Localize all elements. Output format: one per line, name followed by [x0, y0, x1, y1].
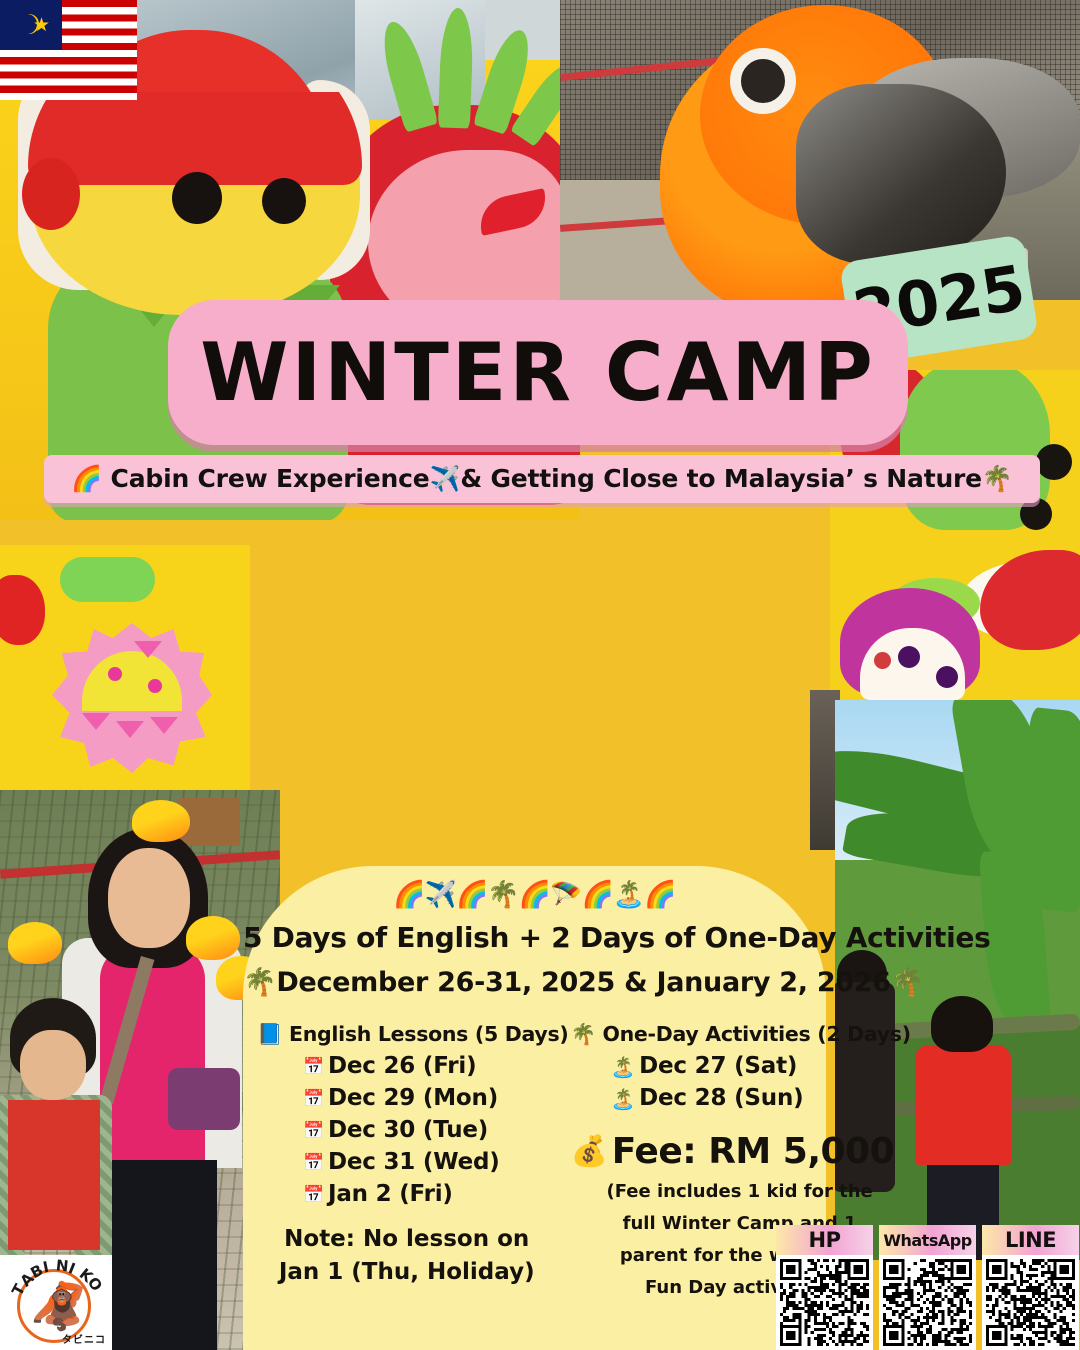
list-item: 📅Dec 29 (Mon)	[251, 1085, 568, 1111]
mascot-eye	[262, 178, 306, 224]
calendar-icon: 📅	[303, 1121, 324, 1141]
winter-camp-poster: ★	[0, 0, 1080, 1350]
mascot-triangle	[150, 717, 178, 734]
list-item-label: Dec 29 (Mon)	[328, 1085, 498, 1111]
qr-code-strip: HP WhatsApp LINE	[776, 1225, 1080, 1350]
list-item-label: Jan 2 (Fri)	[328, 1181, 453, 1207]
mascot-eye	[172, 172, 222, 224]
list-item: 📅Dec 30 (Tue)	[251, 1117, 568, 1143]
headline-days: 5 Days of English + 2 Days of One-Day Ac…	[243, 918, 826, 957]
list-item-label: Dec 30 (Tue)	[328, 1117, 488, 1143]
english-lessons-column: 📘 English Lessons (5 Days) 📅Dec 26 (Fri)…	[251, 1022, 568, 1304]
list-item-label: Dec 31 (Wed)	[328, 1149, 500, 1175]
english-lessons-heading: 📘 English Lessons (5 Days)	[251, 1022, 568, 1047]
orangutan-icon: 🦧	[30, 1281, 78, 1335]
money-bag-icon: 💰	[570, 1134, 607, 1169]
list-item: 🏝️Dec 27 (Sat)	[568, 1053, 910, 1079]
mascot-eye	[898, 646, 920, 668]
list-item-label: Dec 26 (Fri)	[328, 1053, 476, 1079]
qr-hp[interactable]: HP	[776, 1225, 873, 1350]
list-item: 📅Dec 31 (Wed)	[251, 1149, 568, 1175]
qr-hp-label: HP	[776, 1225, 873, 1255]
fee-amount: Fee: RM 5,000	[612, 1131, 894, 1172]
list-item: 📅Dec 26 (Fri)	[251, 1053, 568, 1079]
calendar-icon: 📅	[303, 1153, 324, 1173]
red-decoration	[980, 550, 1080, 650]
qr-line-label: LINE	[982, 1225, 1079, 1255]
sun-conure-bird	[8, 922, 62, 964]
qr-whatsapp[interactable]: WhatsApp	[879, 1225, 976, 1350]
mascot-eye	[148, 679, 162, 693]
headline-dates: 🌴December 26-31, 2025 & January 2, 2026🌴	[243, 963, 826, 1002]
photo-pink-mascot-decoration	[0, 545, 250, 805]
list-item: 🏝️Dec 28 (Sun)	[568, 1085, 910, 1111]
fee-note-line1: (Fee includes 1 kid for the	[572, 1176, 906, 1208]
sun-conure-bird	[186, 916, 240, 960]
mascot-triangle	[116, 721, 144, 738]
holiday-note-line1: Note: No lesson on	[245, 1223, 568, 1256]
fee-row: 💰 Fee: RM 5,000	[568, 1131, 910, 1172]
list-item: 📅Jan 2 (Fri)	[251, 1181, 568, 1207]
calendar-icon: 📅	[303, 1089, 324, 1109]
decoration-dot	[1036, 444, 1072, 480]
logo-japanese-name: タビニコ	[62, 1331, 106, 1346]
tabiniko-logo: TABINIKO 🦧 タビニコ	[0, 1255, 112, 1350]
red-decoration	[0, 575, 45, 645]
shoulder-bag	[168, 1068, 240, 1130]
qr-line-image[interactable]	[982, 1255, 1079, 1350]
page-title: WINTER CAMP	[168, 300, 908, 445]
child-face	[20, 1030, 86, 1100]
subtitle-bar: 🌈 Cabin Crew Experience✈️& Getting Close…	[44, 455, 1040, 503]
sun-conure-bird	[132, 800, 190, 842]
calendar-icon: 📅	[303, 1185, 324, 1205]
mascot-eye	[108, 667, 122, 681]
island-icon: 🏝️	[610, 1087, 635, 1111]
qr-line[interactable]: LINE	[982, 1225, 1079, 1350]
flag-star-icon: ★	[33, 16, 50, 35]
mother-face	[108, 848, 190, 948]
flag-crescent-icon	[12, 14, 32, 34]
qr-whatsapp-label: WhatsApp	[879, 1225, 976, 1255]
holiday-note: Note: No lesson on Jan 1 (Thu, Holiday)	[245, 1223, 568, 1289]
boy-red-shirt	[915, 1045, 1011, 1165]
holiday-note-line2: Jan 1 (Thu, Holiday)	[245, 1256, 568, 1289]
qr-hp-image[interactable]	[776, 1255, 873, 1350]
island-icon: 🏝️	[610, 1055, 635, 1079]
mascot-triangle	[82, 713, 110, 730]
mascot-triangle	[134, 641, 162, 658]
boy-hair	[931, 996, 993, 1052]
list-item-label: Dec 28 (Sun)	[639, 1085, 803, 1111]
mascot-eye	[874, 652, 891, 669]
mascot-eye	[936, 666, 958, 688]
subtitle-text: 🌈 Cabin Crew Experience✈️& Getting Close…	[71, 464, 1013, 494]
parrot-eye	[730, 48, 796, 114]
decorative-emoji-row: 🌈✈️🌈🌴🌈🪂🌈🏝️🌈	[243, 878, 826, 912]
info-card: 🌈✈️🌈🌴🌈🪂🌈🏝️🌈 5 Days of English + 2 Days o…	[243, 866, 826, 1350]
qr-whatsapp-image[interactable]	[879, 1255, 976, 1350]
green-mascot-ear	[22, 158, 80, 230]
list-item-label: Dec 27 (Sat)	[639, 1053, 797, 1079]
schedule-columns: 📘 English Lessons (5 Days) 📅Dec 26 (Fri)…	[243, 1022, 826, 1304]
parrot-beak	[796, 84, 1006, 264]
green-decoration	[60, 557, 155, 602]
calendar-icon: 📅	[303, 1057, 324, 1077]
child-shirt	[8, 1100, 100, 1250]
activities-heading: 🌴 One-Day Activities (2 Days)	[568, 1022, 910, 1047]
photo-malaysia-flag: ★	[0, 0, 137, 100]
